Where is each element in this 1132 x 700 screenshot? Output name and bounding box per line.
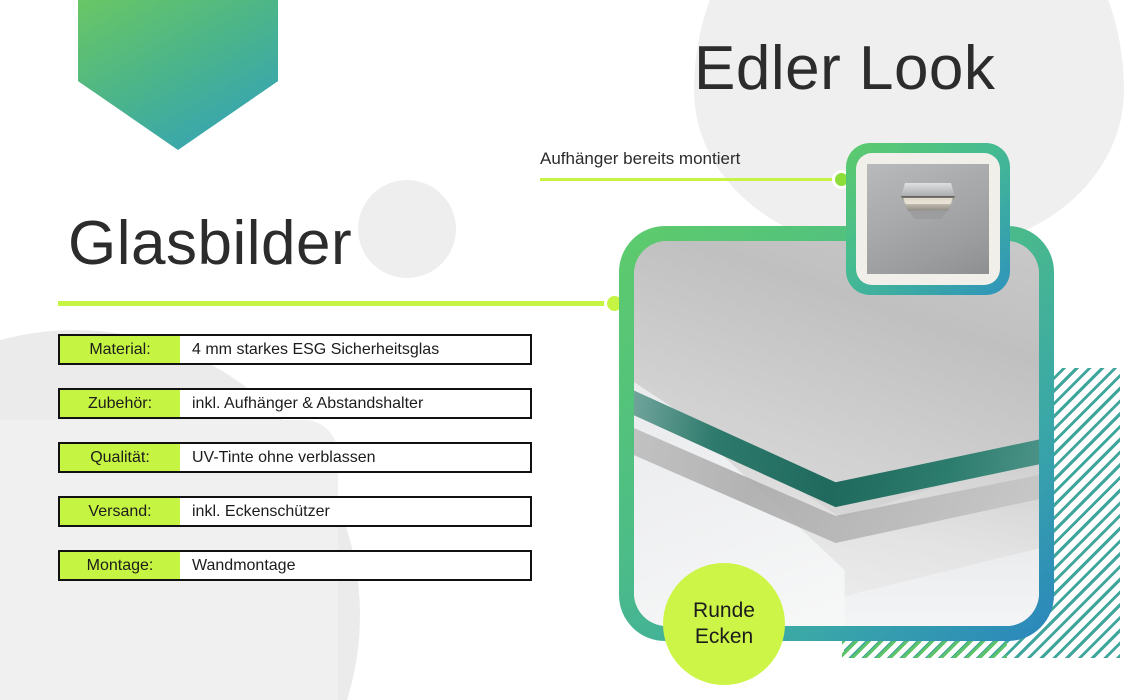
table-row: Material: 4 mm starkes ESG Sicherheitsgl… xyxy=(58,334,532,365)
spec-value: 4 mm starkes ESG Sicherheitsglas xyxy=(180,336,530,363)
hanger-inset-frame xyxy=(846,143,1010,295)
table-row: Qualität: UV-Tinte ohne verblassen xyxy=(58,442,532,473)
status-badge-runde-ecken: Runde Ecken xyxy=(663,563,785,685)
spec-label: Material: xyxy=(60,336,180,363)
spec-label: Versand: xyxy=(60,498,180,525)
specification-table: Material: 4 mm starkes ESG Sicherheitsgl… xyxy=(58,334,532,604)
spec-label: Montage: xyxy=(60,552,180,579)
product-photo-glass-corner xyxy=(634,241,1039,626)
hanger-bracket-photo xyxy=(867,164,989,274)
spec-value: inkl. Aufhänger & Abstandshalter xyxy=(180,390,530,417)
spec-label: Zubehör: xyxy=(60,390,180,417)
wall-hanger-bracket-icon xyxy=(893,179,963,225)
page-title: Glasbilder xyxy=(68,208,352,279)
background-circle-middle xyxy=(358,180,456,278)
callout-label-hanger: Aufhänger bereits montiert xyxy=(540,149,740,169)
badge-line-2: Ecken xyxy=(695,624,753,650)
brand-logo-shield-icon xyxy=(78,0,278,150)
hanger-inset-matte xyxy=(856,153,1000,285)
spec-value: Wandmontage xyxy=(180,552,530,579)
table-row: Montage: Wandmontage xyxy=(58,550,532,581)
spec-value: inkl. Eckenschützer xyxy=(180,498,530,525)
poster-canvas: Edler Look Glasbilder Material: 4 mm sta… xyxy=(0,0,1132,700)
table-row: Versand: inkl. Eckenschützer xyxy=(58,496,532,527)
title-connector-line xyxy=(58,301,614,306)
table-row: Zubehör: inkl. Aufhänger & Abstandshalte… xyxy=(58,388,532,419)
spec-value: UV-Tinte ohne verblassen xyxy=(180,444,530,471)
feature-title: Edler Look xyxy=(694,33,995,104)
spec-label: Qualität: xyxy=(60,444,180,471)
callout-connector-line xyxy=(540,178,845,181)
badge-line-1: Runde xyxy=(693,598,755,624)
